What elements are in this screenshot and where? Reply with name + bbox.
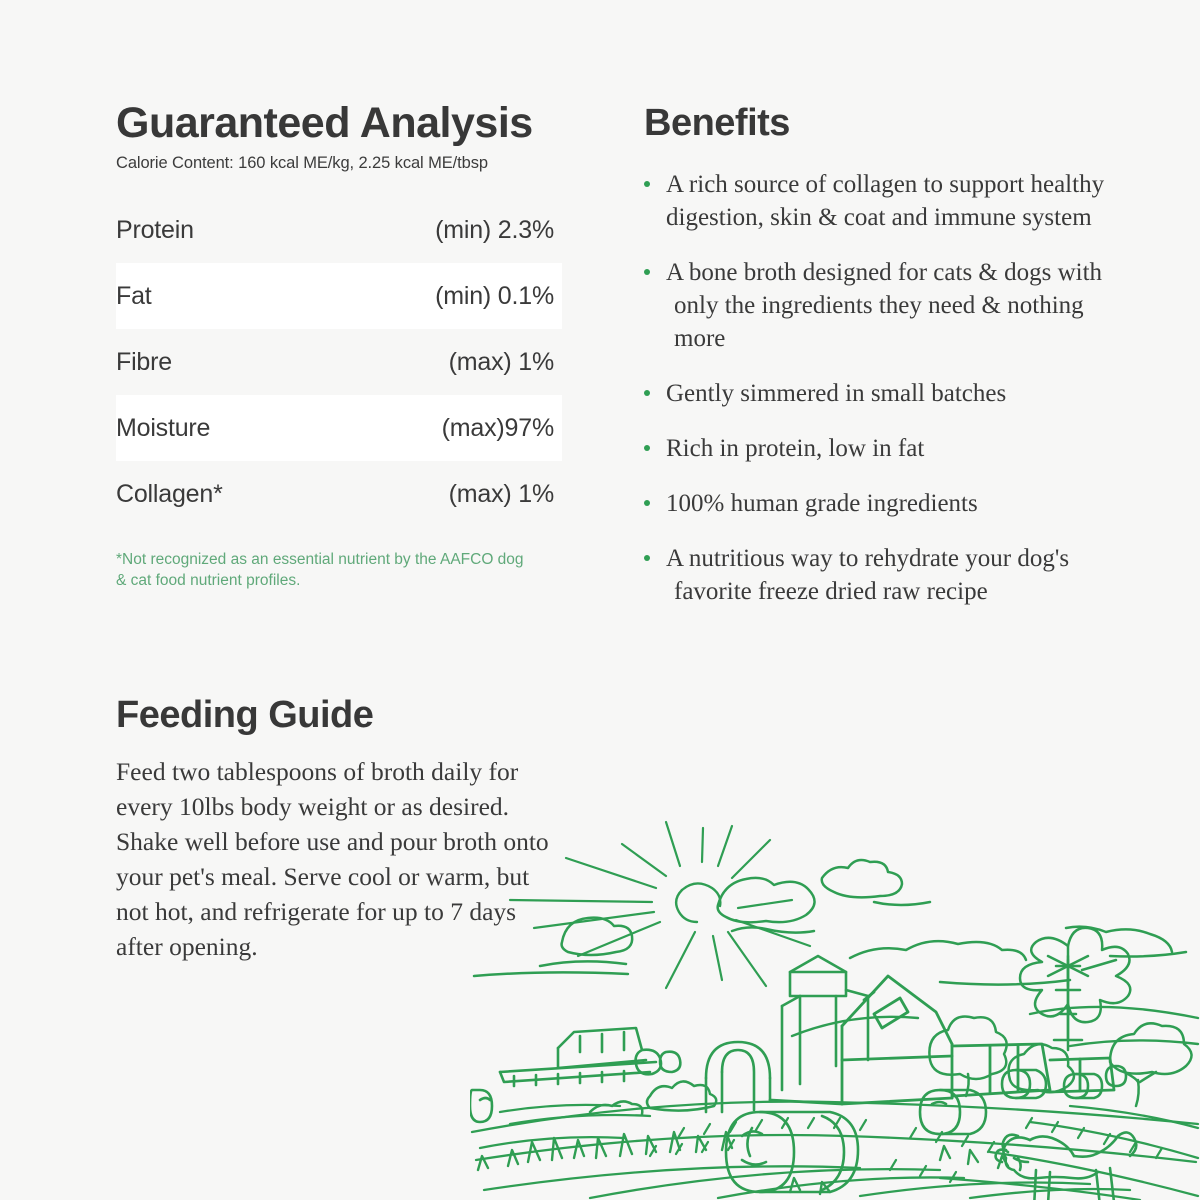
- nutrient-value: (min) 0.1%: [435, 282, 554, 311]
- nutrient-value: (max)97%: [442, 414, 554, 443]
- table-row: Fibre (max) 1%: [116, 329, 562, 395]
- guaranteed-analysis-section: Guaranteed Analysis Calorie Content: 160…: [116, 98, 586, 591]
- nutrient-value: (max) 1%: [449, 348, 554, 377]
- benefit-text: Gently simmered in small batches: [666, 380, 1006, 407]
- bullet-dot-icon: [644, 500, 650, 506]
- benefit-text: 100% human grade ingredients: [666, 490, 978, 517]
- nutrient-label: Fat: [116, 282, 152, 311]
- silo-icon: [706, 956, 868, 1112]
- benefit-text: A nutritious way to rehydrate your dog's…: [666, 545, 1069, 605]
- bullet-dot-icon: [644, 181, 650, 187]
- list-item: A bone broth designed for cats & dogs wi…: [644, 256, 1124, 355]
- benefits-title: Benefits: [644, 100, 1114, 146]
- list-item: Rich in protein, low in fat: [644, 432, 1116, 465]
- product-info-panel: Guaranteed Analysis Calorie Content: 160…: [0, 0, 1200, 1200]
- nutrient-label: Moisture: [116, 414, 210, 443]
- list-item: A rich source of collagen to support hea…: [644, 168, 1116, 234]
- collagen-footnote: *Not recognized as an essential nutrient…: [116, 549, 536, 591]
- table-row: Moisture (max)97%: [116, 395, 562, 461]
- benefits-section: Benefits A rich source of collagen to su…: [644, 100, 1114, 630]
- grass-icon: [478, 1132, 1008, 1194]
- feeding-guide-title: Feeding Guide: [116, 692, 566, 738]
- bullet-dot-icon: [644, 555, 650, 561]
- windmill-icon: [1020, 928, 1130, 1050]
- benefit-text: A rich source of collagen to support hea…: [666, 171, 1104, 231]
- hay-bale-icon: [470, 1066, 1126, 1192]
- nutrient-value: (max) 1%: [449, 480, 554, 509]
- list-item: A nutritious way to rehydrate your dog's…: [644, 542, 1124, 608]
- table-row: Collagen* (max) 1%: [116, 461, 562, 527]
- nutrition-table: Protein (min) 2.3% Fat (min) 0.1% Fibre …: [116, 197, 562, 527]
- benefit-text: Rich in protein, low in fat: [666, 435, 924, 462]
- list-item: 100% human grade ingredients: [644, 487, 1116, 520]
- farm-illustration: [470, 760, 1200, 1200]
- list-item: Gently simmered in small batches: [644, 377, 1116, 410]
- nutrient-label: Collagen*: [116, 480, 223, 509]
- bullet-dot-icon: [644, 269, 650, 275]
- calorie-content-text: Calorie Content: 160 kcal ME/kg, 2.25 kc…: [116, 154, 586, 173]
- tractor-icon: [500, 1028, 680, 1086]
- table-row: Fat (min) 0.1%: [116, 263, 562, 329]
- nutrient-value: (min) 2.3%: [435, 216, 554, 245]
- benefits-list: A rich source of collagen to support hea…: [644, 168, 1114, 608]
- sun-icon: [676, 883, 720, 922]
- bullet-dot-icon: [644, 445, 650, 451]
- guaranteed-analysis-title: Guaranteed Analysis: [116, 98, 586, 148]
- table-row: Protein (min) 2.3%: [116, 197, 562, 263]
- nutrient-label: Fibre: [116, 348, 172, 377]
- nutrient-label: Protein: [116, 216, 194, 245]
- bullet-dot-icon: [644, 390, 650, 396]
- benefit-text: A bone broth designed for cats & dogs wi…: [666, 259, 1102, 352]
